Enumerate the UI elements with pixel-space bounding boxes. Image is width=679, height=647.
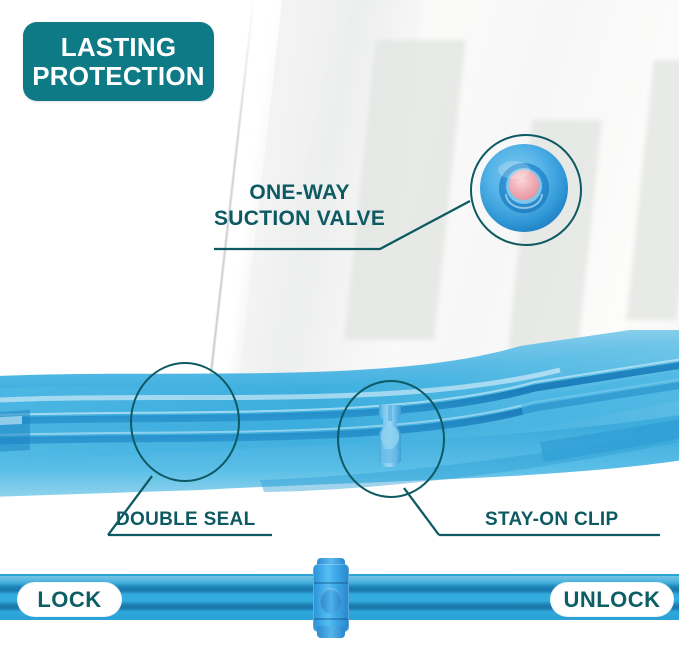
callout-label-stay-on-clip: STAY-ON CLIP xyxy=(485,508,618,531)
slider-knob xyxy=(320,588,342,614)
callout-label-suction-valve: ONE-WAY SUCTION VALVE xyxy=(214,180,385,231)
unlock-label-pill: UNLOCK xyxy=(551,583,673,616)
slider-bottom-cap xyxy=(317,626,345,638)
callout-label-double-seal: DOUBLE SEAL xyxy=(116,508,255,531)
lock-label-pill: LOCK xyxy=(18,583,121,616)
product-photo: ONE-WAY SUCTION VALVE DOUBLE SEAL STAY-O… xyxy=(0,0,679,552)
badge-line1: LASTING xyxy=(61,33,177,61)
infographic-canvas: ONE-WAY SUCTION VALVE DOUBLE SEAL STAY-O… xyxy=(0,0,679,647)
badge-line2: PROTECTION xyxy=(32,62,204,90)
callout-label-line1: ONE-WAY xyxy=(214,180,385,206)
lasting-protection-badge: LASTING PROTECTION xyxy=(23,22,214,101)
zipper-slider xyxy=(311,558,351,638)
slider-seam xyxy=(314,582,348,584)
slider-seam xyxy=(314,618,348,620)
callout-label-line2: SUCTION VALVE xyxy=(214,206,385,232)
